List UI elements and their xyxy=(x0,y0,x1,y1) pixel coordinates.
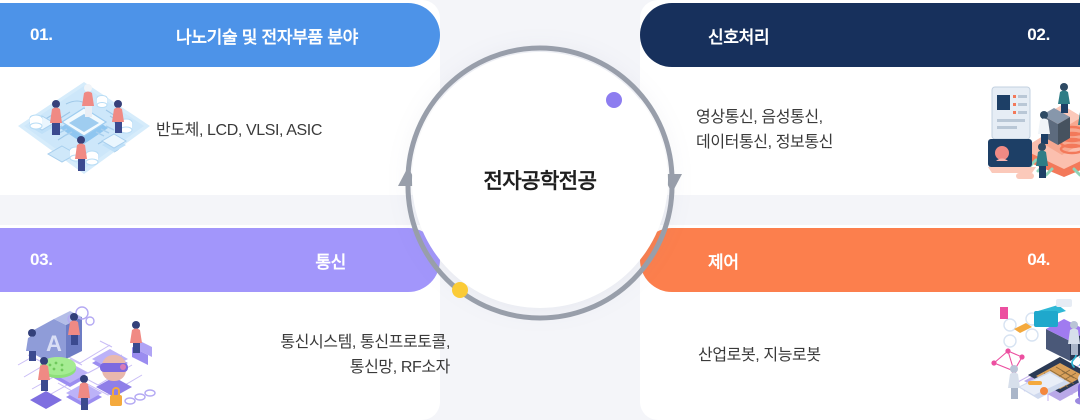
card-04[interactable]: 제어 04. 산업로봇, 지능로봇 xyxy=(640,225,1080,420)
card-02-content: 영상통신, 음성통신, 데이터통신, 정보통신 xyxy=(640,67,1080,195)
card-01-title: 나노기술 및 전자부품 분야 xyxy=(176,23,358,48)
card-02[interactable]: 신호처리 02. 영상통신, 음성통신, 데이터통신, 정보통신 xyxy=(640,0,1080,195)
center-label: 전자공학전공 xyxy=(390,30,690,330)
card-01-header: 01. 나노기술 및 전자부품 분야 xyxy=(0,3,440,67)
card-03-header: 03. 통신 xyxy=(0,228,440,292)
card-02-header: 신호처리 02. xyxy=(640,3,1080,67)
svg-text:A: A xyxy=(46,331,62,356)
card-01[interactable]: 01. 나노기술 및 전자부품 분야 xyxy=(0,0,440,195)
card-03-number: 03. xyxy=(30,250,53,270)
signal-processing-chip-illustration xyxy=(986,73,1080,190)
card-03-title: 통신 xyxy=(315,248,346,273)
card-04-title: 제어 xyxy=(708,248,739,273)
control-robotics-illustration: ? xyxy=(988,295,1080,418)
card-02-title: 신호처리 xyxy=(708,23,769,48)
card-04-text: 산업로봇, 지능로봇 xyxy=(698,344,988,369)
nanotech-circuit-board-illustration xyxy=(14,74,154,189)
communication-network-illustration: A xyxy=(10,295,160,418)
card-04-number: 04. xyxy=(1027,250,1050,270)
card-03[interactable]: 03. 통신 xyxy=(0,225,440,420)
infographic-stage: 01. 나노기술 및 전자부품 분야 xyxy=(0,0,1080,420)
card-04-header: 제어 04. xyxy=(640,228,1080,292)
card-01-number: 01. xyxy=(30,25,53,45)
center-hub: 전자공학전공 xyxy=(390,30,690,330)
card-02-text: 영상통신, 음성통신, 데이터통신, 정보통신 xyxy=(696,106,986,156)
card-01-text: 반도체, LCD, VLSI, ASIC xyxy=(156,119,322,144)
card-03-text: 통신시스템, 통신프로토콜, 통신망, RF소자 xyxy=(160,331,450,381)
card-02-number: 02. xyxy=(1027,25,1050,45)
card-04-content: 산업로봇, 지능로봇 xyxy=(640,292,1080,420)
